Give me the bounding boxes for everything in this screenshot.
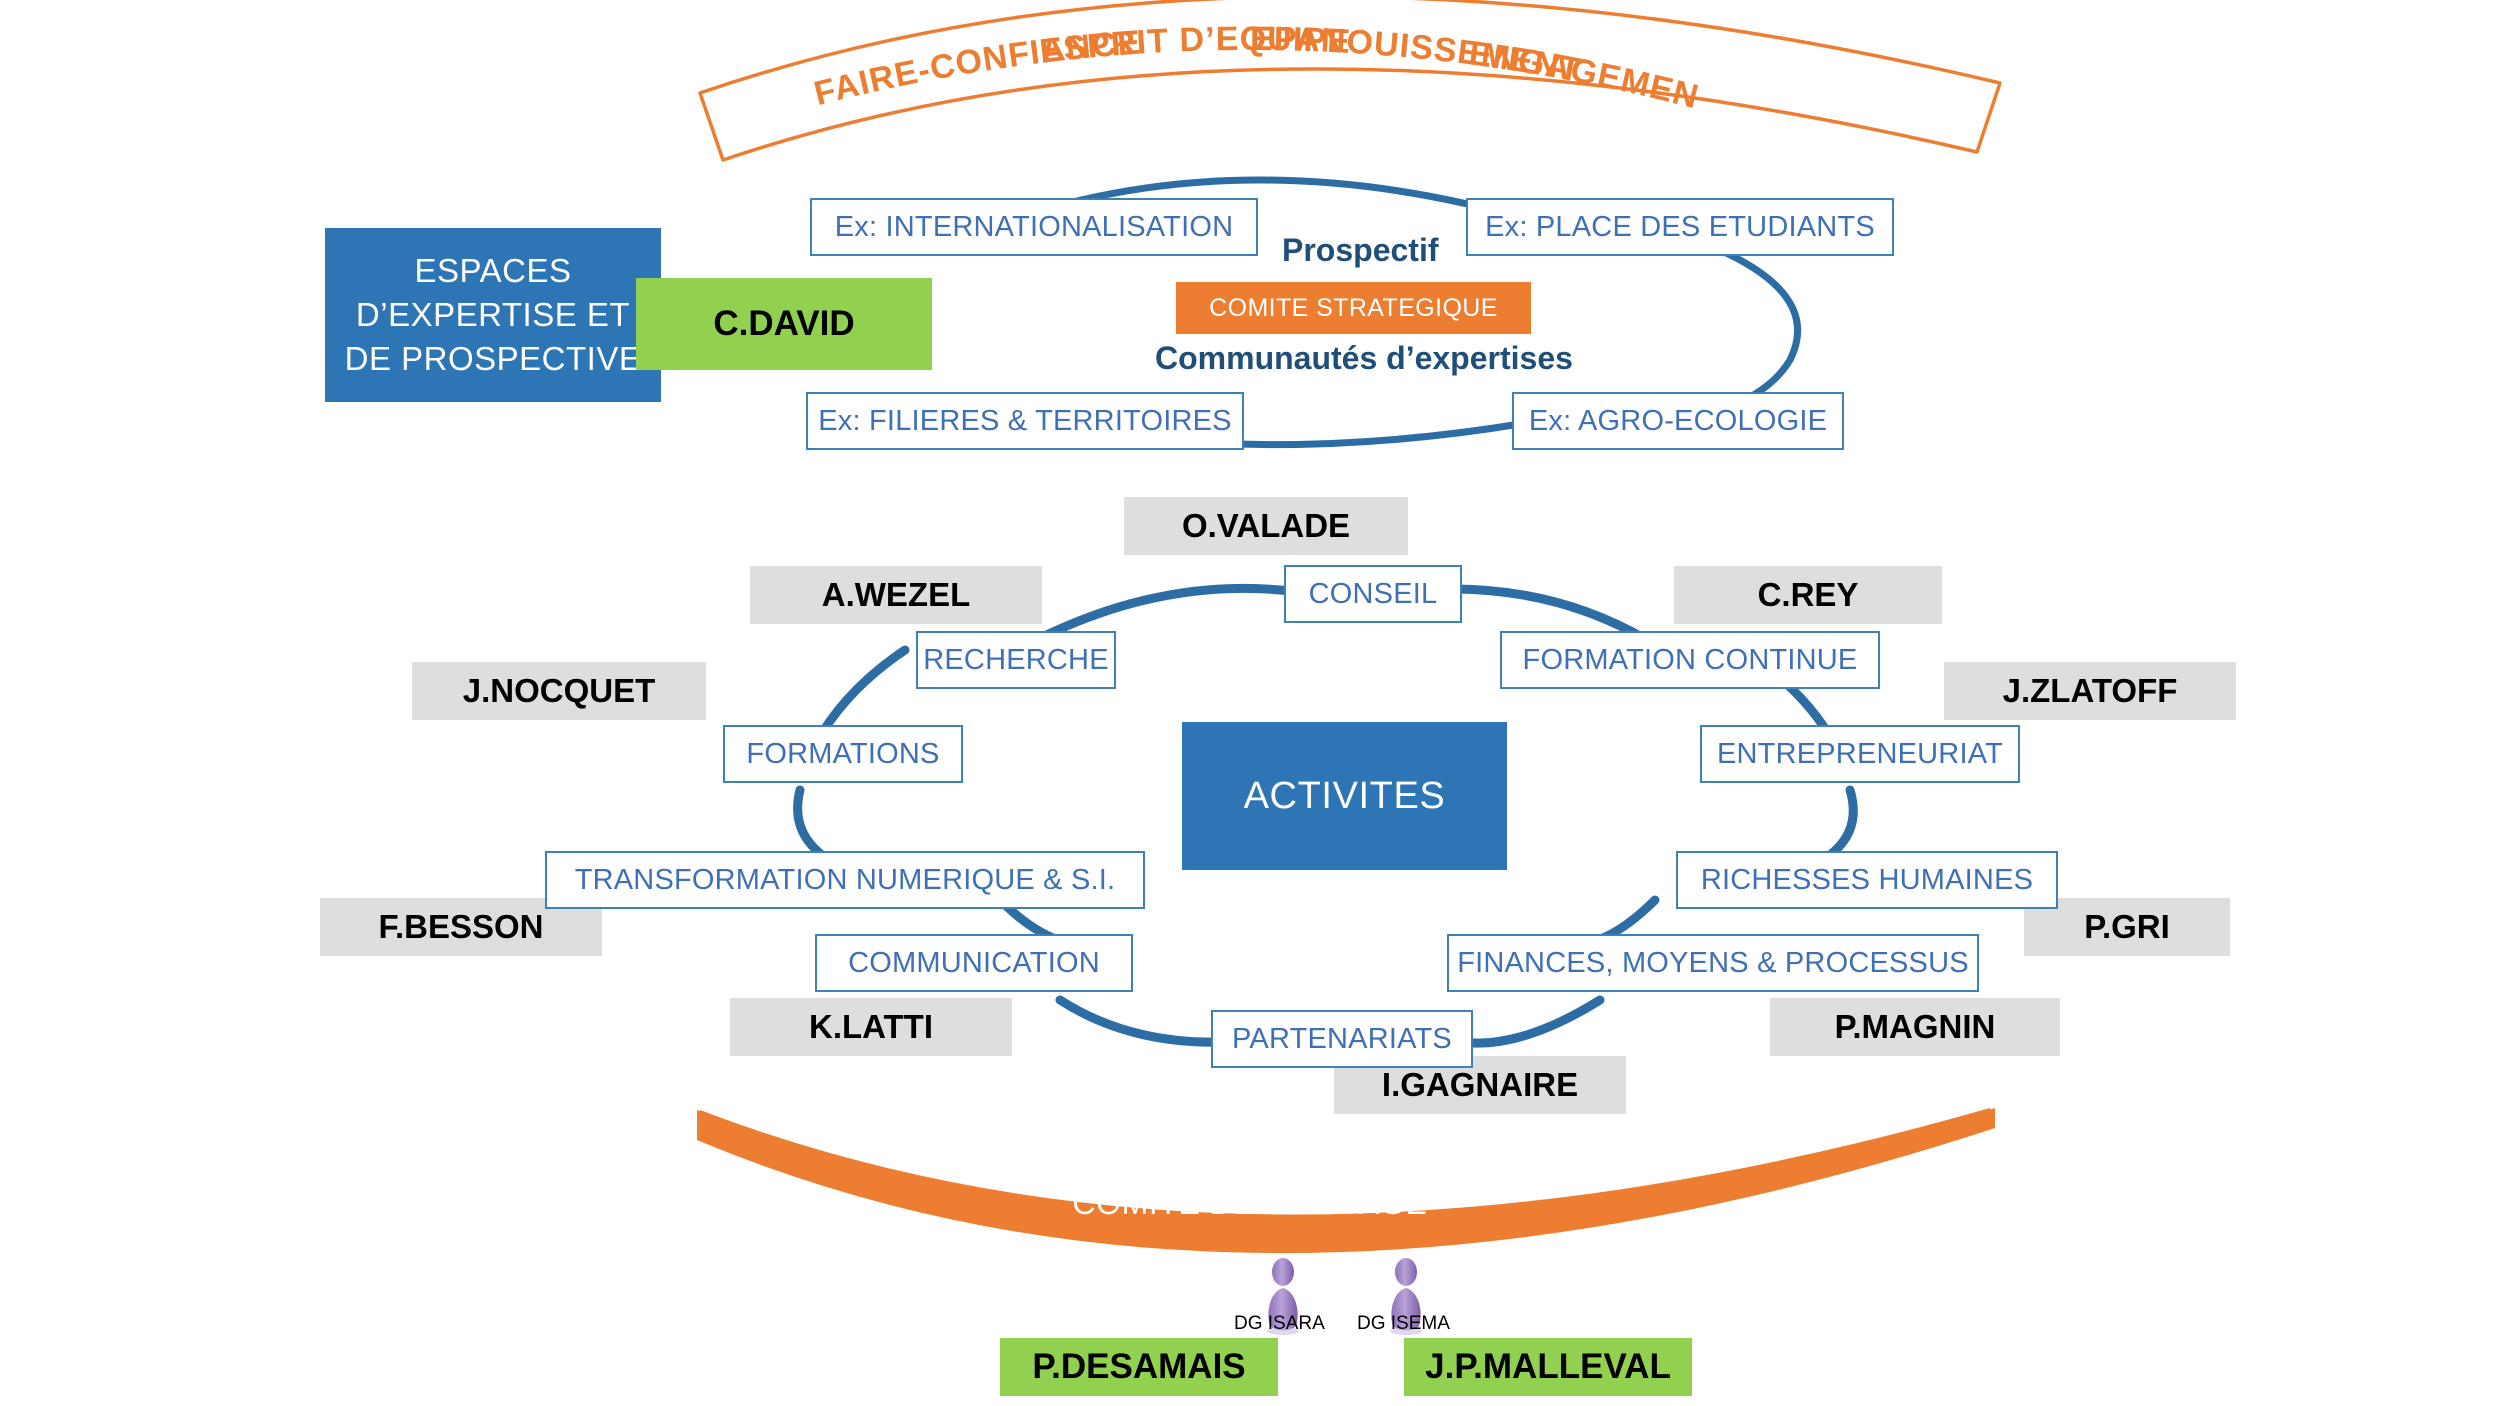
activity-recherche[interactable]: RECHERCHE — [916, 631, 1116, 689]
owner-name-c-rey[interactable]: C.REY — [1674, 566, 1942, 624]
label-prospectif: Prospectif — [1282, 232, 1438, 269]
comite-pilotage-label: COMITE DE PILOTAGE — [0, 1185, 2500, 1222]
expertise-example-filieres-territoires[interactable]: Ex: FILIERES & TERRITOIRES — [806, 392, 1244, 450]
expertise-example-internationalisation[interactable]: Ex: INTERNATIONALISATION — [810, 198, 1258, 256]
activity-entrepreneuriat[interactable]: ENTREPRENEURIAT — [1700, 725, 2020, 783]
steering-banner-shape — [697, 1108, 1995, 1253]
value-word-1: ESPRIT D’EQUIPE — [1038, 20, 1352, 71]
owner-name-a-wezel[interactable]: A.WEZEL — [750, 566, 1042, 624]
owner-name-p-magnin[interactable]: P.MAGNIN — [1770, 998, 2060, 1056]
activity-formations[interactable]: FORMATIONS — [723, 725, 963, 783]
svg-text:ENGAGEMENT: ENGAGEMENT — [0, 0, 1703, 116]
dg-isema-role-label: DG ISEMA — [1357, 1313, 1450, 1335]
owner-name-k-latti[interactable]: K.LATTI — [730, 998, 1012, 1056]
svg-text:ESPRIT D’EQUIPE: ESPRIT D’EQUIPE — [1038, 20, 1352, 71]
svg-text:EPANOUISSEMENT: EPANOUISSEMENT — [1250, 20, 1584, 90]
espaces-expertise-block: ESPACES D’EXPERTISE ET DE PROSPECTIVE — [325, 228, 661, 402]
espaces-line-1: ESPACES — [415, 249, 572, 293]
dg-isara-role-label: DG ISARA — [1234, 1313, 1325, 1335]
svg-text:FAIRE-CONFIANCE: FAIRE-CONFIANCE — [810, 24, 1142, 114]
activites-center-block: ACTIVITES — [1182, 722, 1507, 870]
org-diagram: FAIRE-CONFIANCE ESPRIT D’EQUIPE EPANOUIS… — [0, 0, 2500, 1406]
value-word-2: EPANOUISSEMENT — [1250, 20, 1584, 90]
comite-strategique-badge[interactable]: COMITE STRATEGIQUE — [1176, 282, 1531, 334]
owner-name-o-valade[interactable]: O.VALADE — [1124, 497, 1408, 555]
expertise-example-agro-ecologie[interactable]: Ex: AGRO-ECOLOGIE — [1512, 392, 1844, 450]
activity-formation-continue[interactable]: FORMATION CONTINUE — [1500, 631, 1880, 689]
owner-name-j-nocquet[interactable]: J.NOCQUET — [412, 662, 706, 720]
director-name-jp-malleval[interactable]: J.P.MALLEVAL — [1404, 1338, 1692, 1396]
espaces-line-3: DE PROSPECTIVE — [345, 337, 642, 381]
activity-finances-moyens-processus[interactable]: FINANCES, MOYENS & PROCESSUS — [1447, 934, 1979, 992]
activity-partenariats[interactable]: PARTENARIATS — [1211, 1010, 1473, 1068]
label-communautes-expertises: Communautés d’expertises — [1155, 340, 1573, 377]
activity-richesses-humaines[interactable]: RICHESSES HUMAINES — [1676, 851, 2058, 909]
value-word-3: ENGAGEMENT — [0, 0, 1703, 116]
activity-transformation-numerique[interactable]: TRANSFORMATION NUMERIQUE & S.I. — [545, 851, 1145, 909]
values-arc-shape — [700, 0, 2000, 160]
expertise-lead-name[interactable]: C.DAVID — [636, 278, 932, 370]
director-name-p-desamais[interactable]: P.DESAMAIS — [1000, 1338, 1278, 1396]
value-word-0: FAIRE-CONFIANCE — [810, 24, 1142, 114]
espaces-line-2: D’EXPERTISE ET — [356, 293, 630, 337]
activity-communication[interactable]: COMMUNICATION — [815, 934, 1133, 992]
owner-name-j-zlatoff[interactable]: J.ZLATOFF — [1944, 662, 2236, 720]
expertise-example-place-etudiants[interactable]: Ex: PLACE DES ETUDIANTS — [1466, 198, 1894, 256]
activity-conseil[interactable]: CONSEIL — [1284, 565, 1462, 623]
